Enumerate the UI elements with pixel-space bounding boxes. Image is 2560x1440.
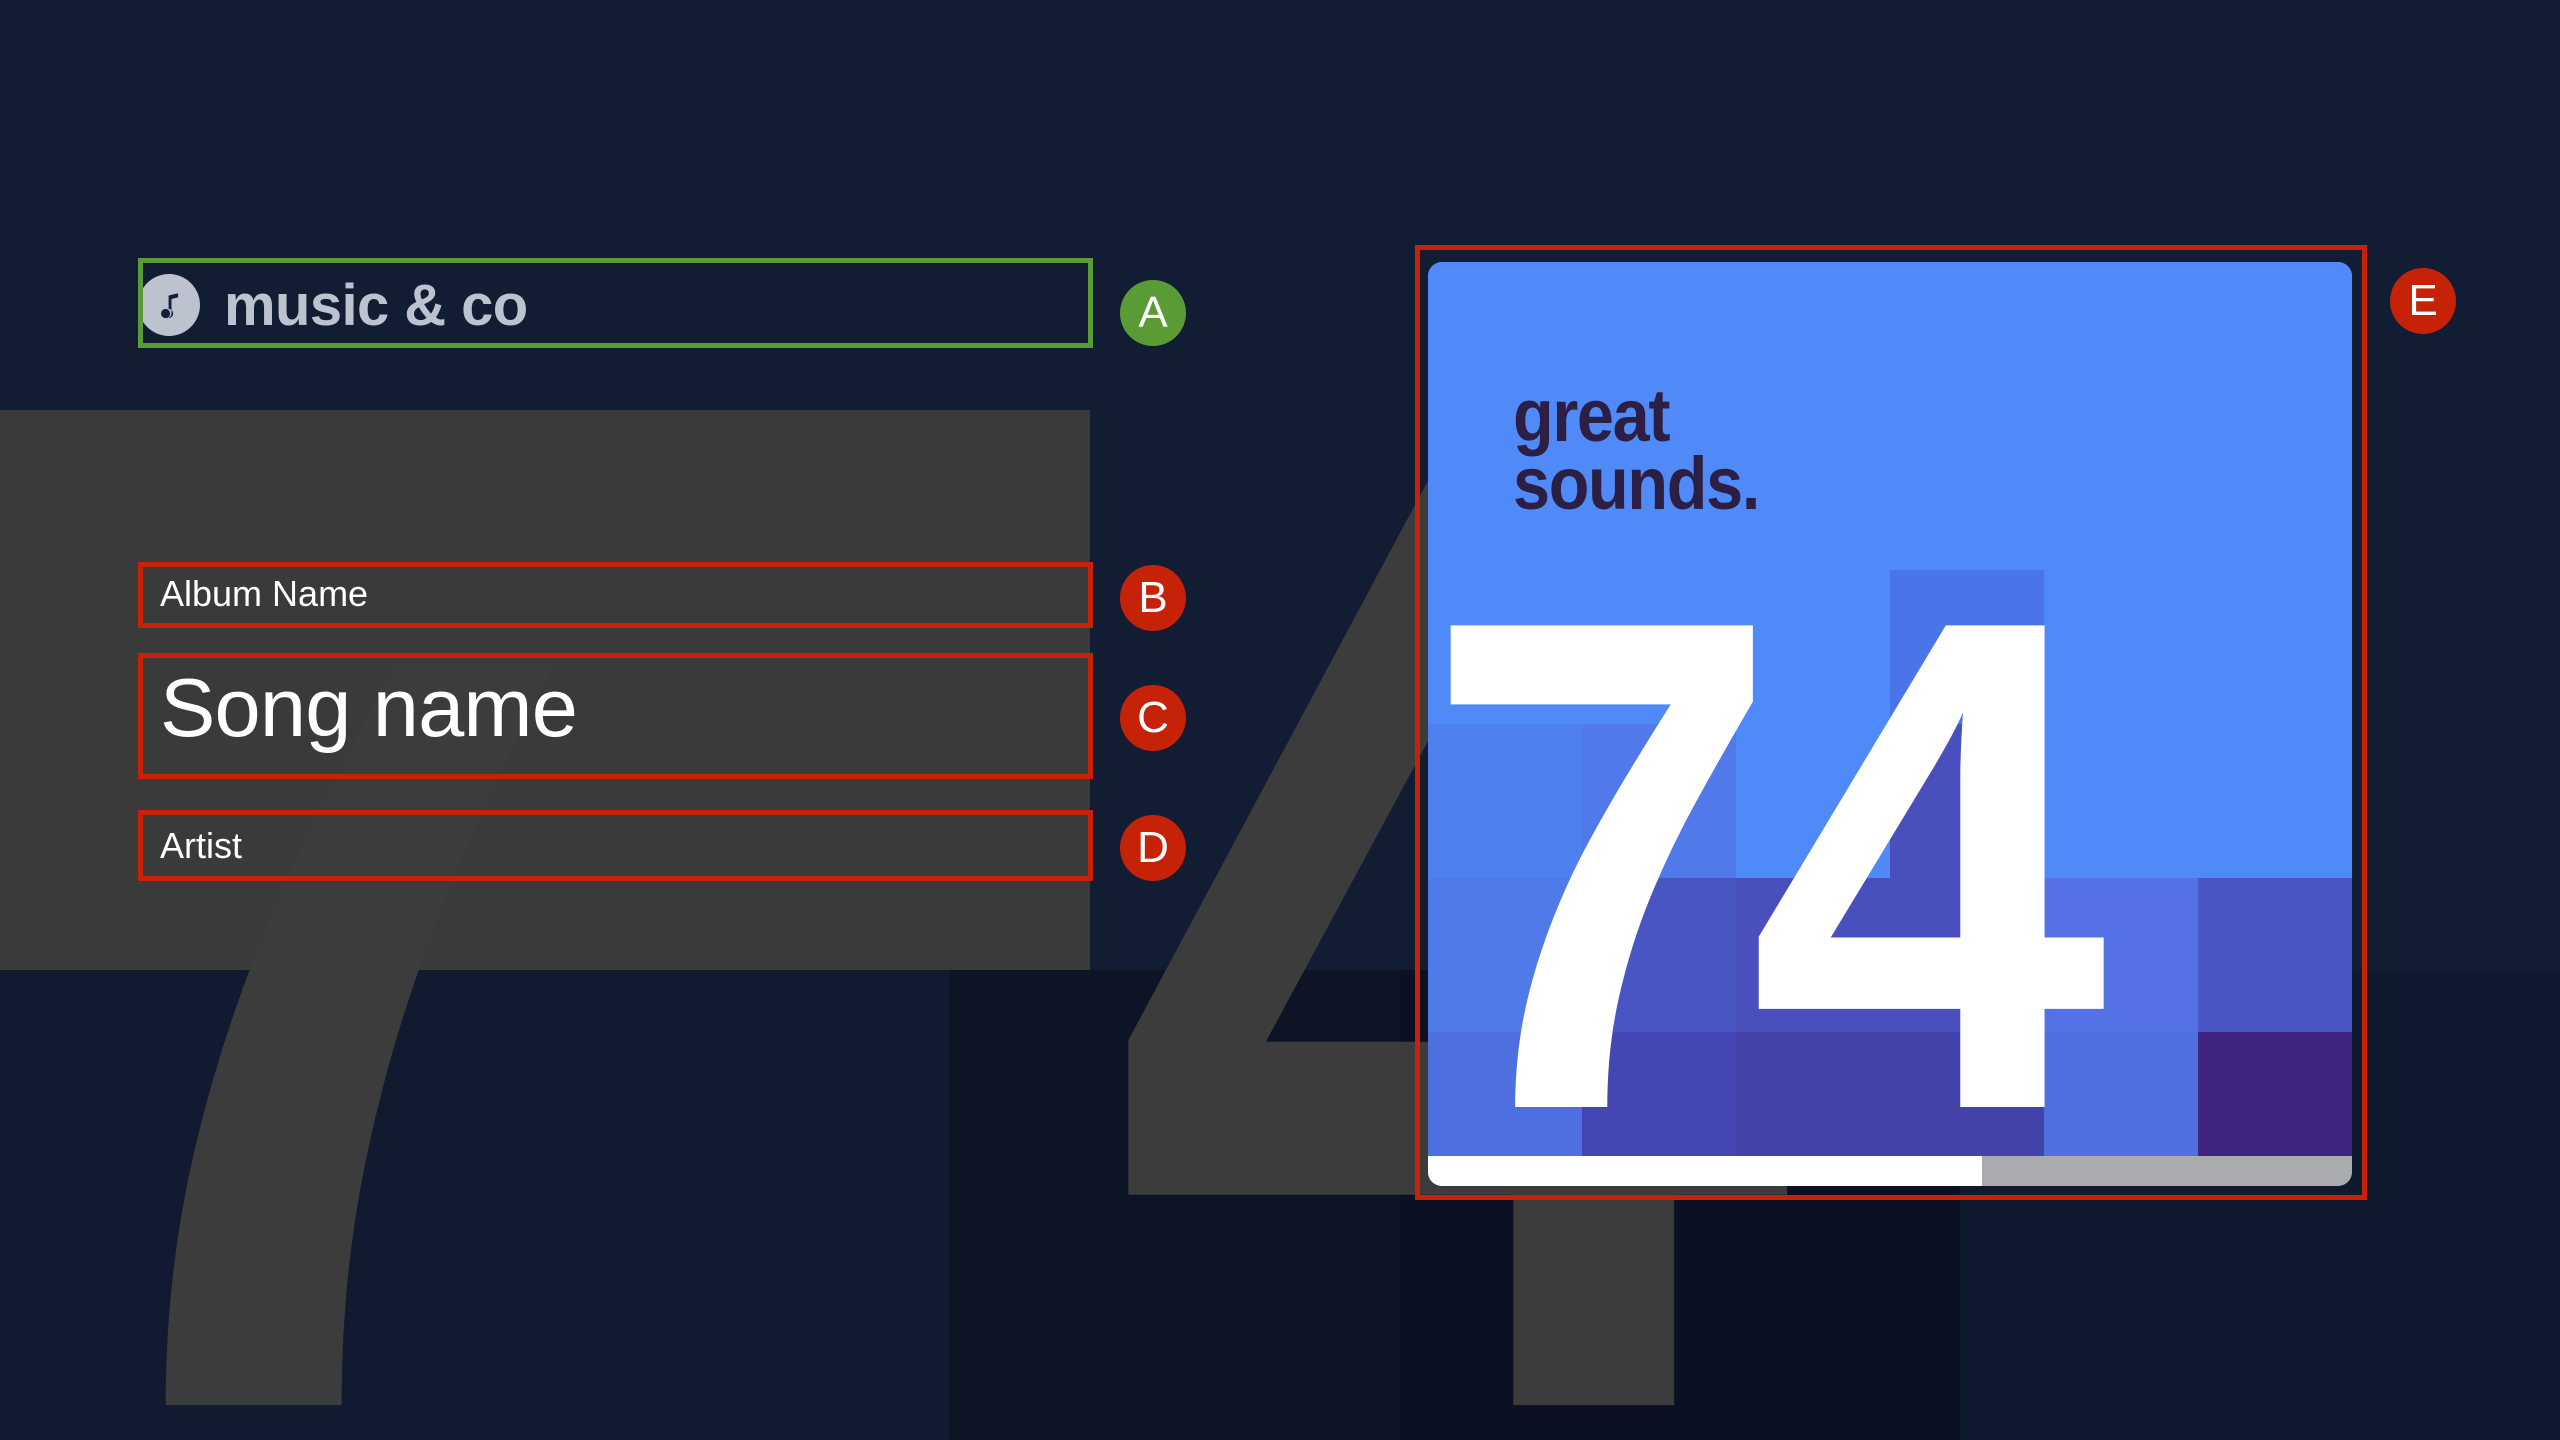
album-art-tile xyxy=(2198,262,2352,416)
annotation-badge-c: C xyxy=(1120,685,1186,751)
annotation-badge-b: B xyxy=(1120,565,1186,631)
album-art-tile xyxy=(1736,262,1890,416)
album-art-tile xyxy=(2198,416,2352,570)
album-art-tile xyxy=(1890,262,2044,416)
brand-name-label: music & co xyxy=(224,272,528,339)
playback-progress-fill xyxy=(1428,1156,1982,1186)
player-screen: 7 4 music & co Album Name Song name Arti… xyxy=(0,0,2560,1440)
track-info-column: music & co Album Name Song name Artist xyxy=(0,0,1250,1440)
annotation-badge-e: E xyxy=(2390,268,2456,334)
music-note-icon xyxy=(138,274,200,336)
album-art-tagline-line1: great xyxy=(1513,382,1759,450)
album-art-tile xyxy=(2044,262,2198,416)
annotation-badge-d: D xyxy=(1120,815,1186,881)
album-name-label: Album Name xyxy=(160,573,368,615)
song-name-label: Song name xyxy=(160,660,577,756)
album-art-numeral: 74 xyxy=(1428,592,2273,1138)
artist-name-label: Artist xyxy=(160,825,242,867)
annotation-badge-a: A xyxy=(1120,280,1186,346)
playback-progress-bar[interactable] xyxy=(1428,1156,2352,1186)
brand-logo-row[interactable]: music & co xyxy=(138,265,1093,345)
album-art[interactable]: great sounds. 74 xyxy=(1428,262,2352,1186)
